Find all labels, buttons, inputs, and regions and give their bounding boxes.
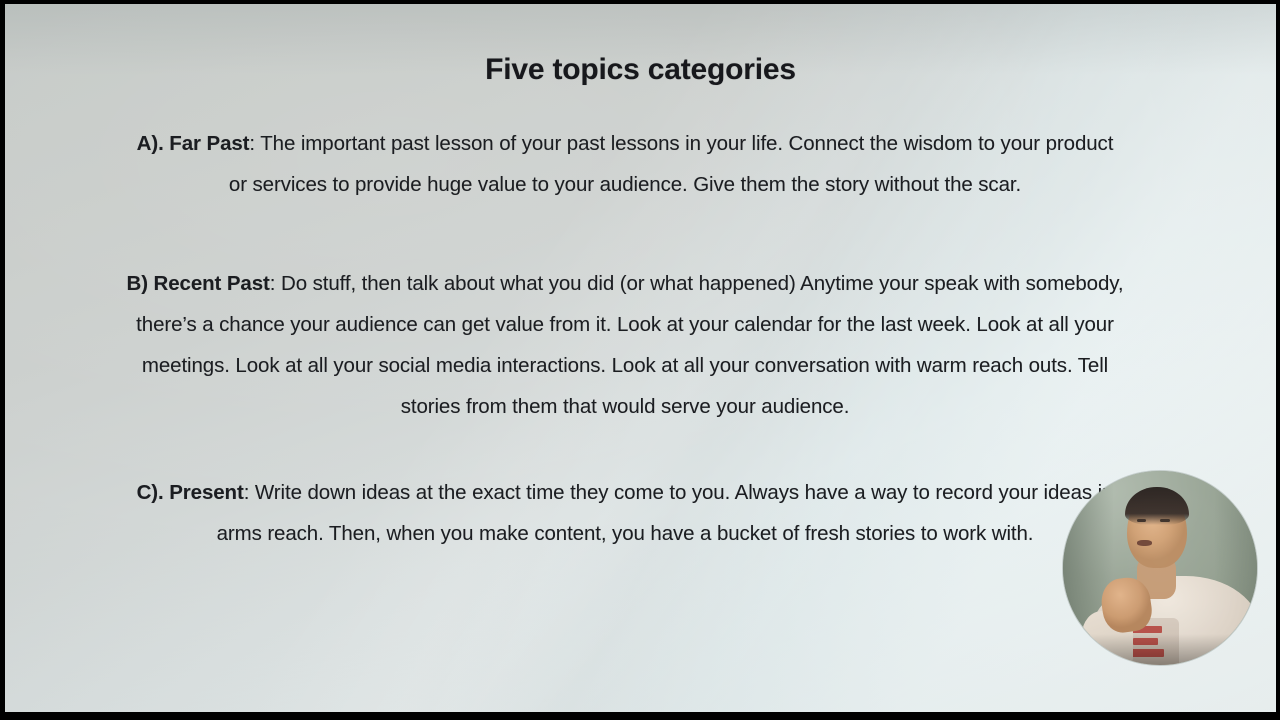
topic-body-present: Write down ideas at the exact time they … xyxy=(217,481,1114,545)
topic-item-recent-past: B) Recent Past: Do stuff, then talk abou… xyxy=(125,263,1125,427)
topic-label-far-past: A). Far Past xyxy=(137,132,250,155)
topic-separator-recent-past: : xyxy=(270,272,281,295)
webcam-bottom-shadow xyxy=(1063,634,1257,665)
topic-label-present: C). Present xyxy=(137,481,244,504)
topic-label-recent-past: B) Recent Past xyxy=(126,272,269,295)
slide-title: Five topics categories xyxy=(5,53,1276,86)
video-frame: Five topics categories A). Far Past: The… xyxy=(0,0,1280,720)
presentation-slide: Five topics categories A). Far Past: The… xyxy=(5,4,1276,712)
topic-item-far-past: A). Far Past: The important past lesson … xyxy=(125,123,1125,205)
topic-body-recent-past: Do stuff, then talk about what you did (… xyxy=(136,272,1123,418)
topic-separator-present: : xyxy=(244,481,255,504)
presenter-webcam-bubble xyxy=(1063,471,1257,665)
topic-body-far-past: The important past lesson of your past l… xyxy=(229,132,1113,196)
topic-separator-far-past: : xyxy=(249,132,260,155)
topic-item-present: C). Present: Write down ideas at the exa… xyxy=(125,472,1125,554)
